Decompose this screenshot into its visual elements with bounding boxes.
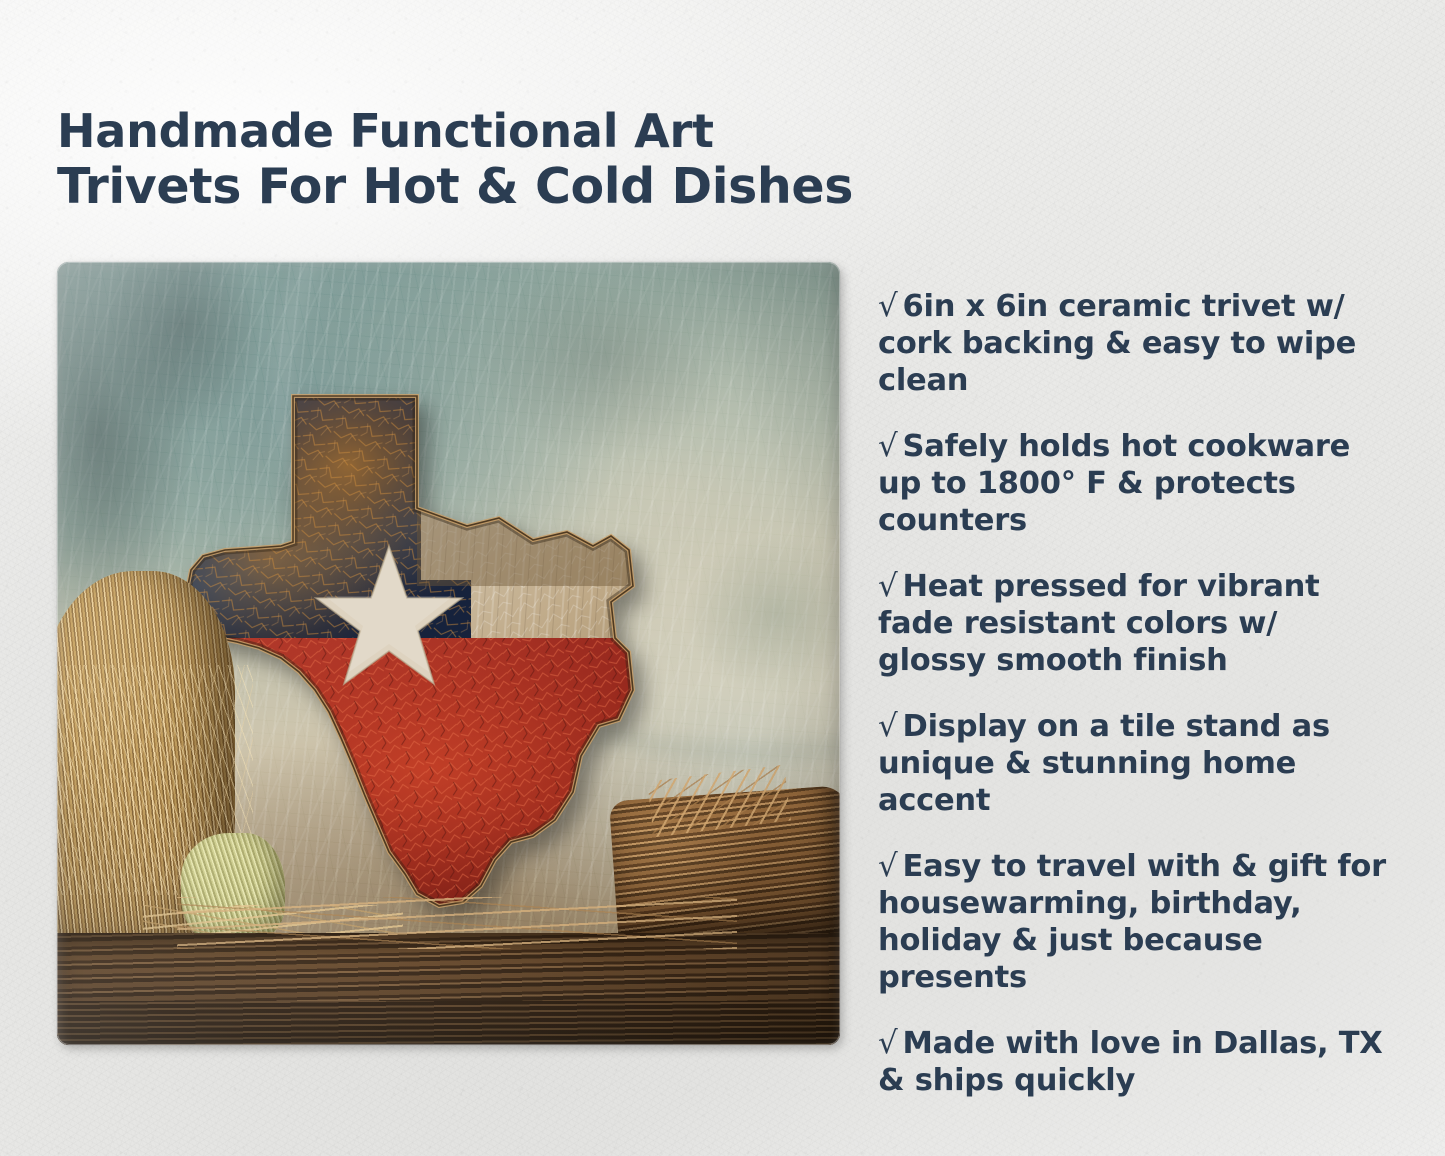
feature-text: Safely holds hot cookware up to 1800° F … xyxy=(878,429,1350,538)
feature-item: √Heat pressed for vibrant fade resistant… xyxy=(878,568,1394,679)
feature-bullet-list: √6in x 6in ceramic trivet w/ cork backin… xyxy=(878,288,1394,1099)
page-title-line-2: Trivets For Hot & Cold Dishes xyxy=(57,159,887,214)
product-image-texas-flag-trivet xyxy=(57,262,840,1045)
checkmark-icon: √ xyxy=(878,848,903,884)
feature-item: √6in x 6in ceramic trivet w/ cork backin… xyxy=(878,288,1394,399)
feature-item: √Safely holds hot cookware up to 1800° F… xyxy=(878,428,1394,539)
feature-item: √Made with love in Dallas, TX & ships qu… xyxy=(878,1025,1394,1099)
feature-text: Easy to travel with & gift for housewarm… xyxy=(878,849,1386,995)
feature-item: √Display on a tile stand as unique & stu… xyxy=(878,708,1394,819)
feature-text: Display on a tile stand as unique & stun… xyxy=(878,709,1330,818)
checkmark-icon: √ xyxy=(878,1025,903,1061)
checkmark-icon: √ xyxy=(878,568,903,604)
plank-front-edge xyxy=(57,1001,840,1045)
page-title-line-1: Handmade Functional Art xyxy=(57,104,887,159)
page-title: Handmade Functional Art Trivets For Hot … xyxy=(57,104,887,214)
checkmark-icon: √ xyxy=(878,288,903,324)
feature-item: √Easy to travel with & gift for housewar… xyxy=(878,848,1394,996)
feature-text: Heat pressed for vibrant fade resistant … xyxy=(878,569,1319,678)
feature-text: Made with love in Dallas, TX & ships qui… xyxy=(878,1026,1383,1098)
wooden-plank-shelf xyxy=(57,933,840,1045)
checkmark-icon: √ xyxy=(878,708,903,744)
plank-twigs-overlay xyxy=(177,897,737,949)
feature-text: 6in x 6in ceramic trivet w/ cork backing… xyxy=(878,289,1356,398)
checkmark-icon: √ xyxy=(878,428,903,464)
